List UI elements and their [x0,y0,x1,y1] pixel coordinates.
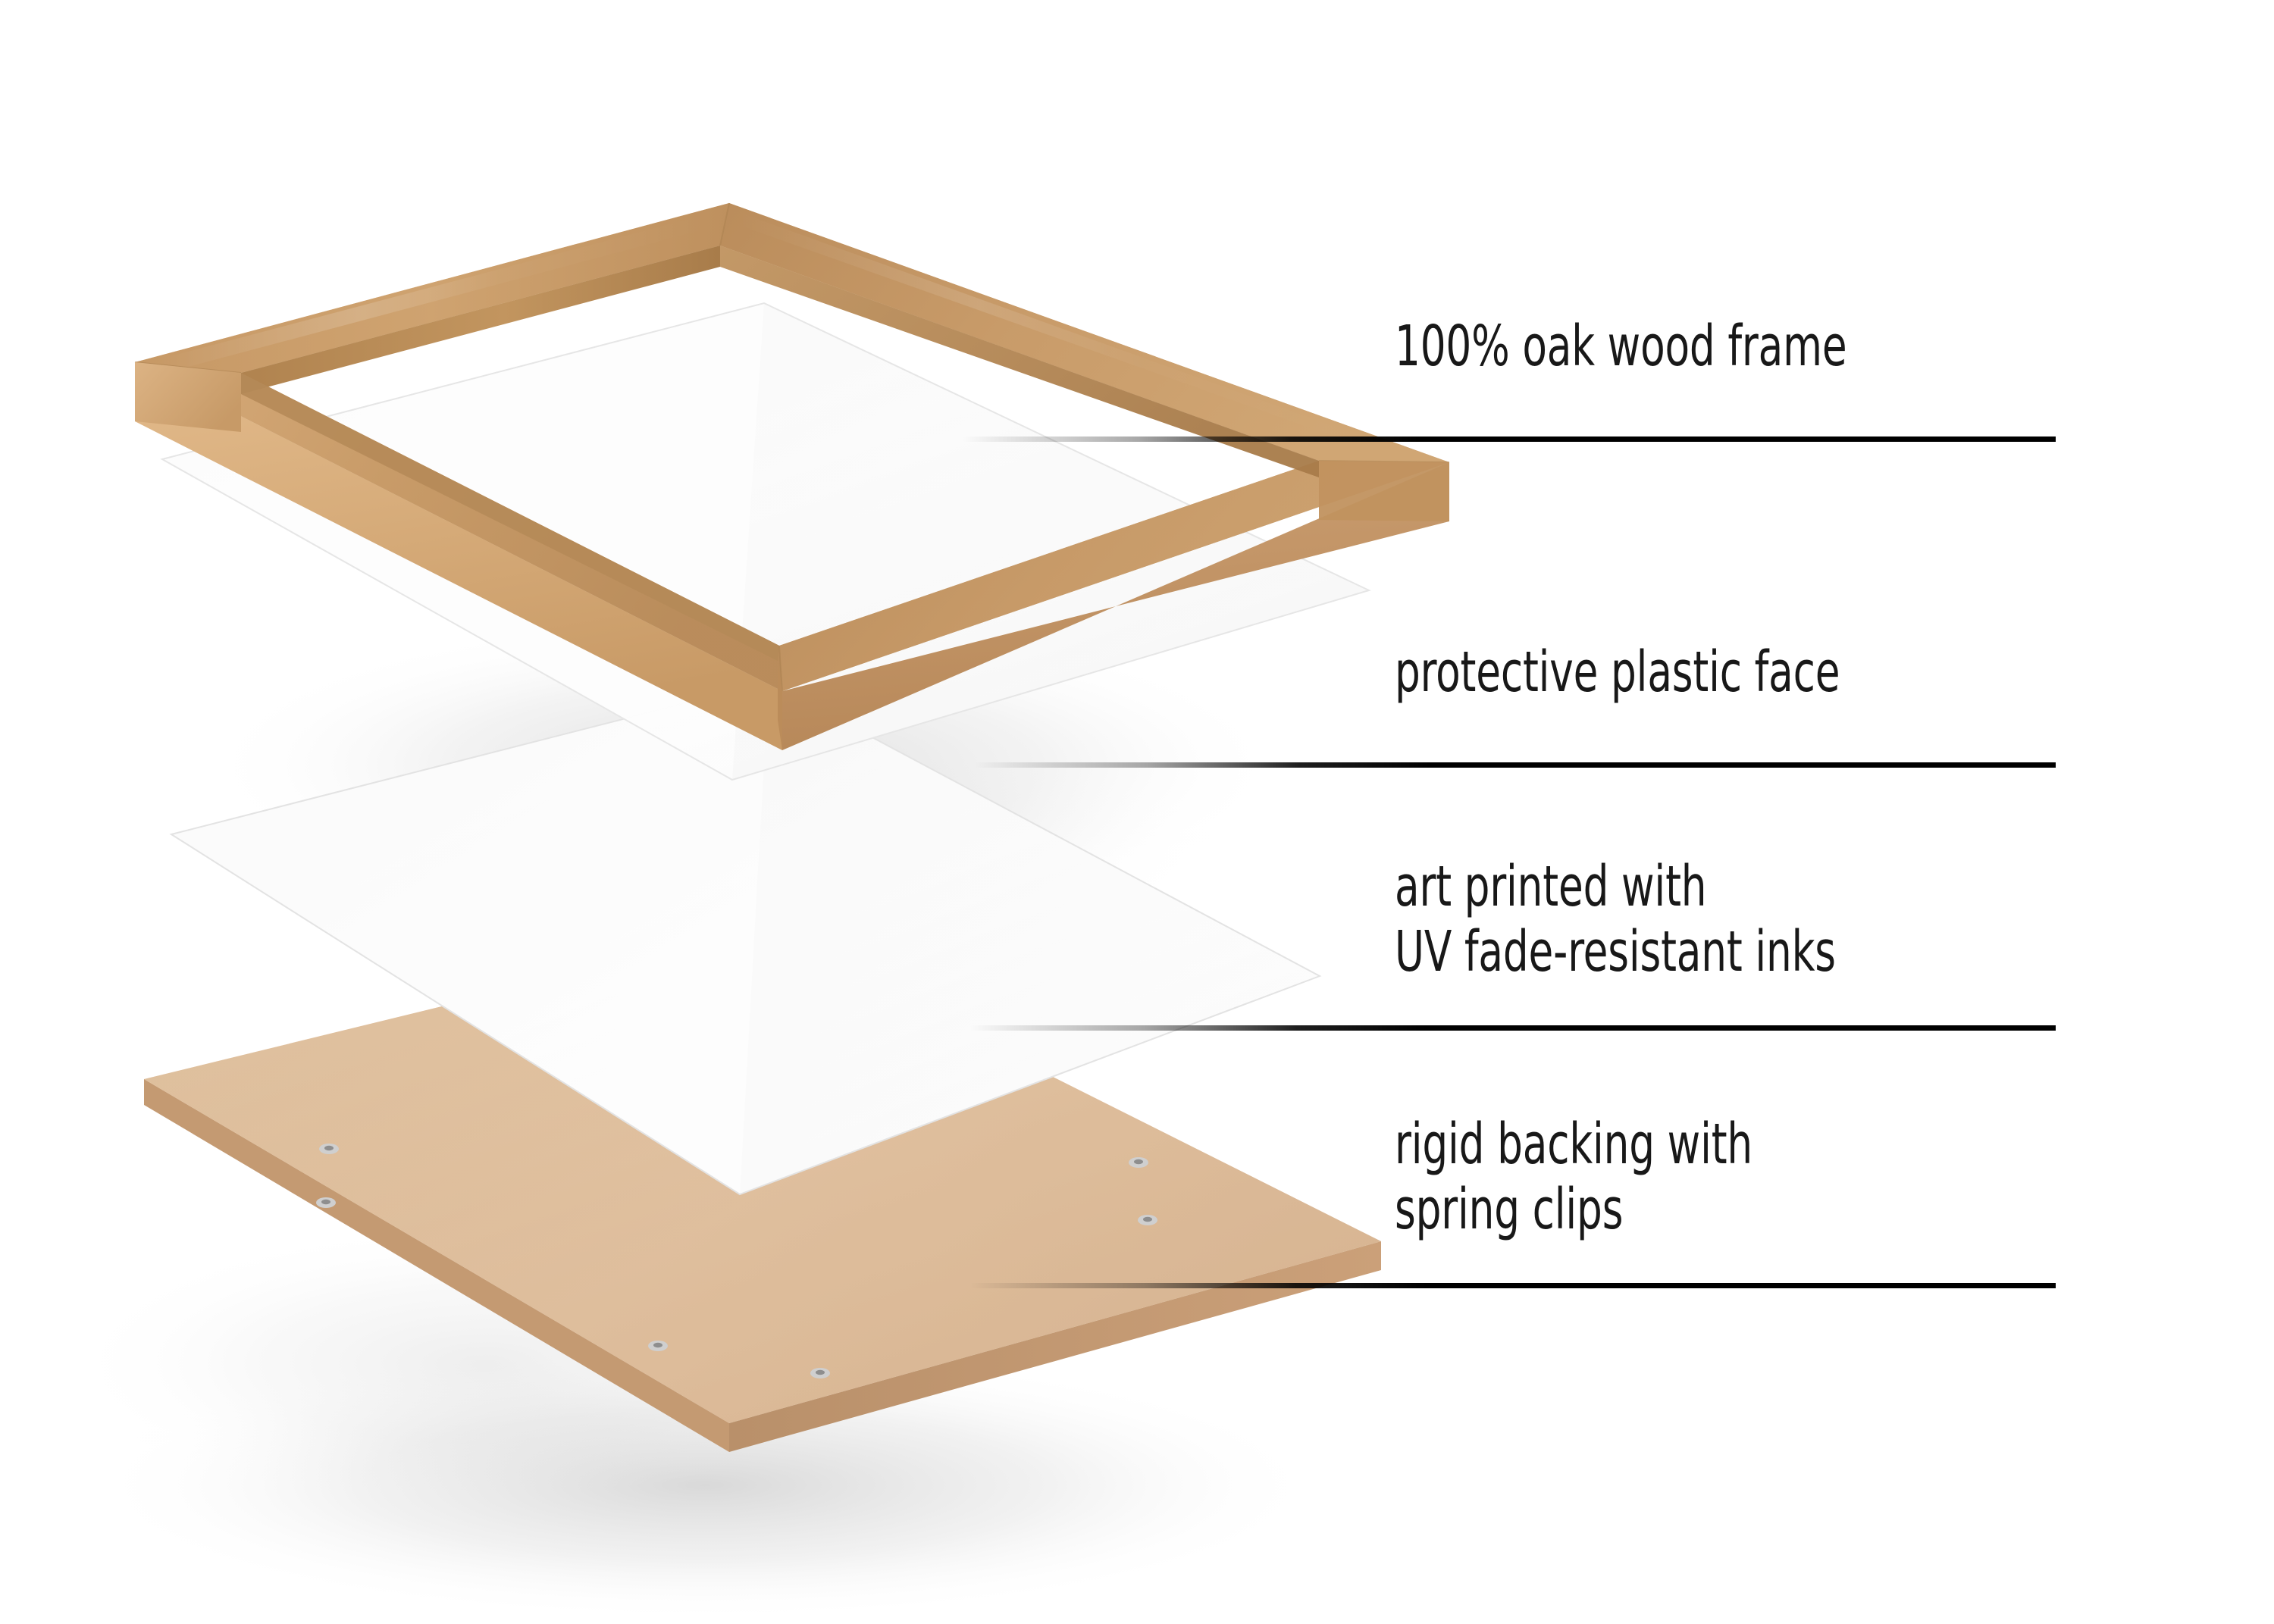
callout-art-print: art printed withUV fade-resistant inks [1395,855,1946,985]
spring-clip [319,1144,339,1154]
exploded-view-illustration [0,0,2274,1624]
spring-clip [1129,1157,1148,1168]
callout-oak-wood-frame: 100% oak wood frame [1395,314,1960,380]
leader-line-frame [963,437,2056,442]
callout-protective-plastic-face: protective plastic face [1395,640,1951,706]
callout-label-art-line1: art printed with [1395,854,1706,919]
callout-label-frame: 100% oak wood frame [1395,314,1846,380]
spring-clip [1138,1215,1157,1225]
frame-endcap-left [135,362,241,432]
leader-line-plastic [974,762,2056,768]
callout-label-art-line2: UV fade-resistant inks [1395,920,1836,985]
exploded-frame-diagram: 100% oak wood frame protective plastic f… [0,0,2274,1624]
callout-label-backing-line2: spring clips [1395,1178,1752,1243]
callout-label-backing: rigid backing withspring clips [1395,1112,1752,1243]
callout-rigid-backing: rigid backing withspring clips [1395,1112,1842,1243]
spring-clip [316,1197,336,1208]
leader-line-art [970,1025,2056,1031]
frame-endcap-right [1319,461,1449,521]
spring-clip [648,1341,668,1351]
callout-label-backing-line1: rigid backing with [1395,1112,1752,1177]
spring-clip [810,1368,830,1378]
callout-label-art: art printed withUV fade-resistant inks [1395,855,1836,985]
leader-line-backing [970,1283,2056,1288]
callout-label-plastic: protective plastic face [1395,640,1840,706]
